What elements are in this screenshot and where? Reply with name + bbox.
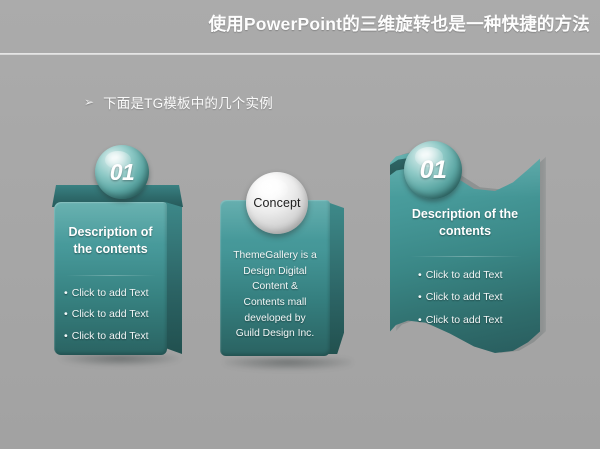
arrow-right-icon: ➢ <box>84 96 94 108</box>
list-item[interactable]: Click to add Text <box>418 270 538 281</box>
card-two-badge-label: Concept <box>253 196 300 210</box>
card-three-heading-line2: contents <box>400 223 530 240</box>
card-two-body-line: Contents mall <box>223 295 327 311</box>
card-three-bullet-list: Click to add Text Click to add Text Clic… <box>418 270 538 337</box>
card-one-bullet-list: Click to add Text Click to add Text Clic… <box>64 288 168 352</box>
card-three[interactable]: Description of the contents Click to add… <box>390 150 550 368</box>
card-one-badge-label: 01 <box>110 159 135 186</box>
card-three-heading-line1: Description of the <box>400 206 530 223</box>
card-two-shadow <box>224 358 352 370</box>
card-one-heading: Description of the contents <box>58 224 163 258</box>
card-two-body-line: Guild Design Inc. <box>223 326 327 342</box>
page-title: 使用PowerPoint的三维旋转也是一种快捷的方法 <box>209 11 590 36</box>
card-one-heading-line2: the contents <box>58 241 163 258</box>
slide-canvas: 使用PowerPoint的三维旋转也是一种快捷的方法 ➢ 下面是TG模板中的几个… <box>0 0 600 449</box>
card-one-shadow <box>60 354 180 366</box>
list-item[interactable]: Click to add Text <box>418 315 538 326</box>
subtitle-text: 下面是TG模板中的几个实例 <box>103 92 273 112</box>
card-two-body-line: Design Digital <box>223 264 327 280</box>
card-one[interactable]: Description of the contents Click to add… <box>54 186 171 355</box>
card-three-sphere-badge-icon: 01 <box>404 141 462 199</box>
title-divider <box>0 53 600 55</box>
card-three-heading: Description of the contents <box>400 206 530 240</box>
list-item[interactable]: Click to add Text <box>64 288 168 299</box>
card-three-separator <box>410 256 522 257</box>
card-one-heading-line1: Description of <box>58 224 163 241</box>
card-two[interactable]: ThemeGallery is a Design Digital Content… <box>220 200 346 362</box>
card-two-body-line: ThemeGallery is a <box>223 248 327 264</box>
card-two-sphere-badge-icon: Concept <box>246 172 308 234</box>
title-bar: 使用PowerPoint的三维旋转也是一种快捷的方法 <box>0 0 600 52</box>
list-item[interactable]: Click to add Text <box>64 309 168 320</box>
card-three-badge-label: 01 <box>420 156 447 185</box>
list-item[interactable]: Click to add Text <box>418 292 538 303</box>
subtitle-row: ➢ 下面是TG模板中的几个实例 <box>84 92 273 112</box>
card-one-separator <box>66 275 156 276</box>
card-one-sphere-badge-icon: 01 <box>95 145 149 199</box>
card-two-body-line: developed by <box>223 311 327 327</box>
list-item[interactable]: Click to add Text <box>64 331 168 342</box>
card-two-body-text: ThemeGallery is a Design Digital Content… <box>223 248 327 342</box>
card-two-body-line: Content & <box>223 279 327 295</box>
